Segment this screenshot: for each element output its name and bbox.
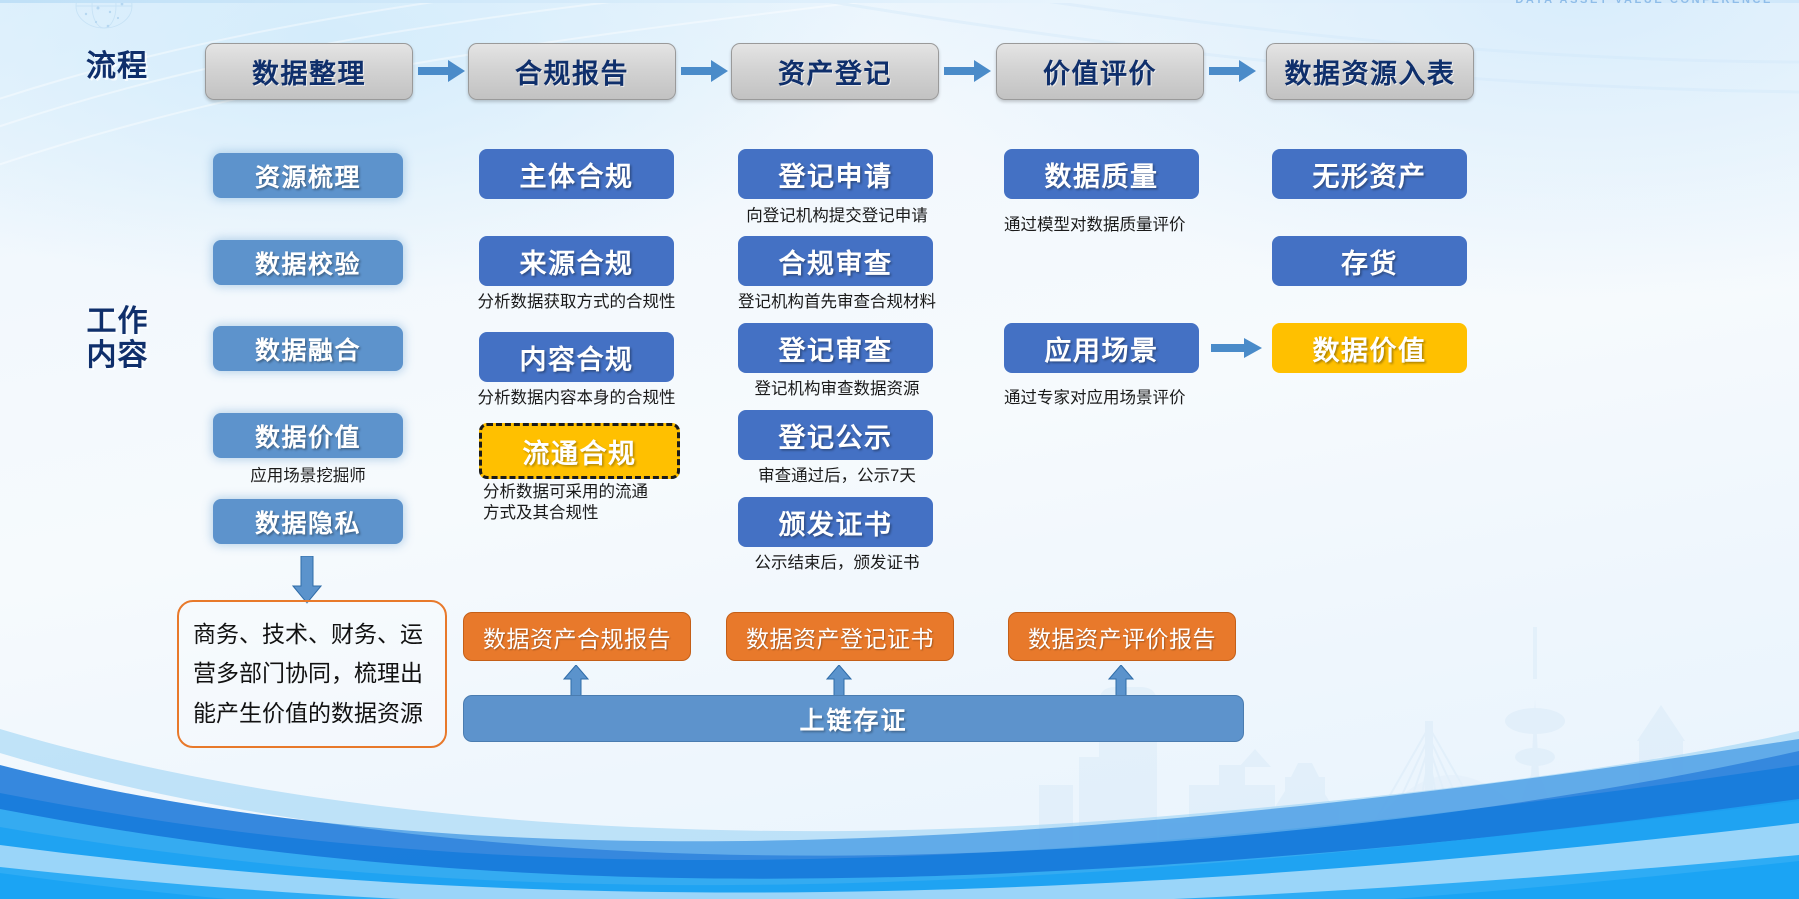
- caption-registration-review: 登记机构审查数据资源: [712, 379, 962, 400]
- caption-application-scenario: 通过专家对应用场景评价: [1004, 388, 1284, 409]
- task-box-issue-certificate[interactable]: 颁发证书: [738, 497, 933, 547]
- task-box-registration-review[interactable]: 登记审查: [738, 323, 933, 373]
- process-step-4[interactable]: 数据资源入表: [1266, 43, 1474, 100]
- task-box-data-validation[interactable]: 数据校验: [213, 240, 403, 285]
- caption-registration-application: 向登记机构提交登记申请: [712, 206, 962, 227]
- task-box-inventory[interactable]: 存货: [1272, 236, 1467, 286]
- process-arrow-icon-3: [1209, 58, 1257, 84]
- task-box-intangible-asset[interactable]: 无形资产: [1272, 149, 1467, 199]
- up-arrow-icon-2: [1108, 665, 1134, 697]
- globe-dots-decoration: [52, 0, 172, 50]
- task-box-circulation-compliance[interactable]: 流通合规: [479, 423, 680, 479]
- task-box-data-privacy[interactable]: 数据隐私: [213, 499, 403, 544]
- caption-registration-publicity: 审查通过后，公示7天: [712, 466, 962, 487]
- scenario-to-value-arrow-icon: [1211, 336, 1263, 360]
- process-step-0[interactable]: 数据整理: [205, 43, 413, 100]
- task-box-resource-sorting[interactable]: 资源梳理: [213, 153, 403, 198]
- task-box-content-compliance[interactable]: 内容合规: [479, 332, 674, 382]
- down-arrow-icon-to-note: [292, 556, 322, 604]
- task-box-data-quality[interactable]: 数据质量: [1004, 149, 1199, 199]
- task-box-registration-publicity[interactable]: 登记公示: [738, 410, 933, 460]
- task-box-compliance-review[interactable]: 合规审查: [738, 236, 933, 286]
- task-box-application-scenario[interactable]: 应用场景: [1004, 323, 1199, 373]
- caption-circulation-compliance: 分析数据可采用的流通 方式及其合规性: [483, 482, 743, 524]
- process-step-2[interactable]: 资产登记: [731, 43, 939, 100]
- document-evaluation-report[interactable]: 数据资产评价报告: [1008, 612, 1236, 661]
- caption-source-compliance: 分析数据获取方式的合规性: [449, 292, 704, 313]
- note-box-departments: 商务、技术、财务、运 营多部门协同，梳理出 能产生价值的数据资源: [177, 600, 447, 748]
- document-compliance-report[interactable]: 数据资产合规报告: [463, 612, 691, 661]
- up-arrow-icon-0: [563, 665, 589, 697]
- up-arrow-icon-1: [826, 665, 852, 697]
- caption-content-compliance: 分析数据内容本身的合规性: [449, 388, 704, 409]
- blockchain-storage-bar[interactable]: 上链存证: [463, 695, 1244, 742]
- task-box-data-fusion[interactable]: 数据融合: [213, 326, 403, 371]
- task-box-data-value[interactable]: 数据价值: [213, 413, 403, 458]
- process-arrow-icon-0: [418, 58, 466, 84]
- task-box-data-value-result[interactable]: 数据价值: [1272, 323, 1467, 373]
- caption-data-quality: 通过模型对数据质量评价: [1004, 215, 1284, 236]
- conference-title: DATA ASSET VALUE CONFERENCE: [1515, 0, 1773, 6]
- caption-data-value: 应用场景挖掘师: [193, 466, 423, 487]
- process-step-3[interactable]: 价值评价: [996, 43, 1204, 100]
- document-registration-certificate[interactable]: 数据资产登记证书: [726, 612, 954, 661]
- task-box-registration-application[interactable]: 登记申请: [738, 149, 933, 199]
- row-label-process: 流程: [62, 50, 172, 84]
- task-box-source-compliance[interactable]: 来源合规: [479, 236, 674, 286]
- task-box-entity-compliance[interactable]: 主体合规: [479, 149, 674, 199]
- note-box-text: 商务、技术、财务、运 营多部门协同，梳理出 能产生价值的数据资源: [193, 615, 423, 734]
- process-arrow-icon-1: [681, 58, 729, 84]
- process-step-1[interactable]: 合规报告: [468, 43, 676, 100]
- caption-issue-certificate: 公示结束后，颁发证书: [712, 553, 962, 574]
- process-arrow-icon-2: [944, 58, 992, 84]
- row-label-work-content: 工作 内容: [60, 305, 175, 372]
- caption-compliance-review: 登记机构首先审查合规材料: [707, 292, 967, 313]
